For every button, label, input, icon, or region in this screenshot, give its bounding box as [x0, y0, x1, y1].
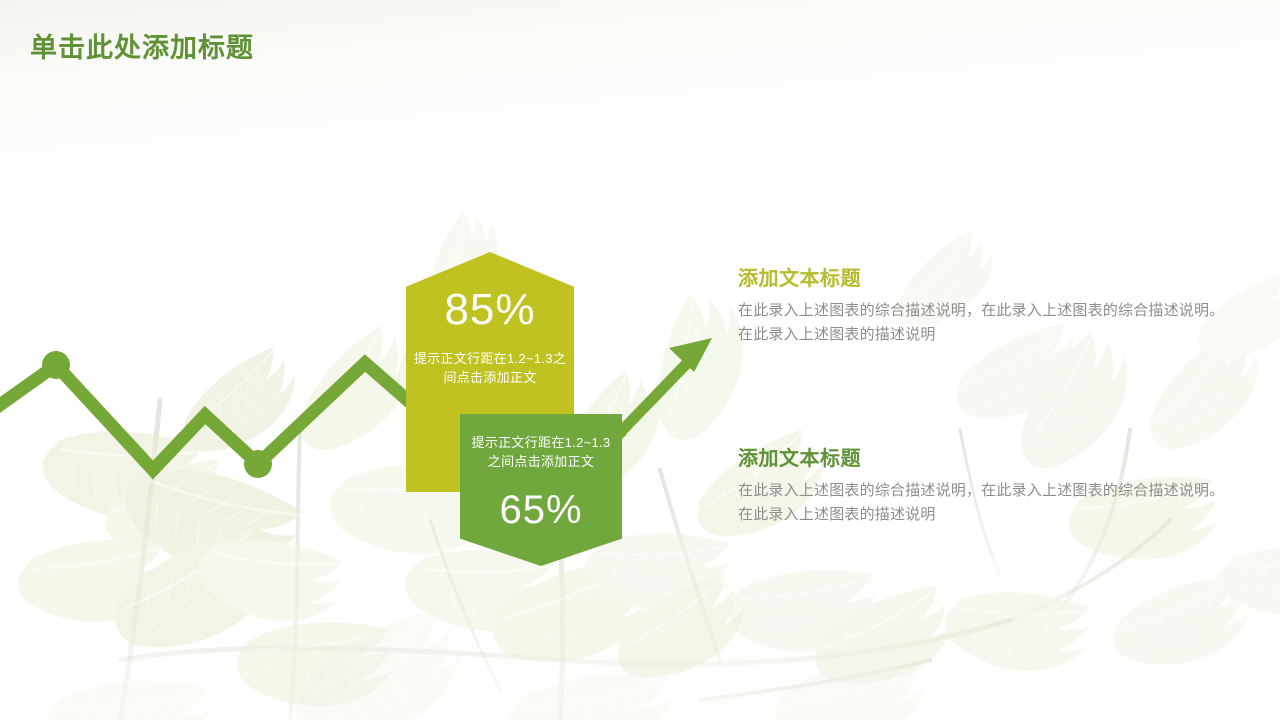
chart-marker-2	[244, 450, 272, 478]
text-block-1-heading: 添加文本标题	[738, 262, 1238, 291]
badge-65-percent[interactable]: 提示正文行距在1.2~1.3之间点击添加正文 65%	[460, 414, 622, 566]
chart-arrow	[610, 338, 712, 443]
chart-marker-1	[42, 351, 70, 379]
text-block-1: 添加文本标题 在此录入上述图表的综合描述说明，在此录入上述图表的综合描述说明。在…	[738, 262, 1238, 348]
badge-65-note: 提示正文行距在1.2~1.3之间点击添加正文	[465, 434, 617, 472]
slide-canvas: 单击此处添加标题 85% 提示正文行距在1.2~1.3之间点击添加正文 提示正文…	[0, 0, 1280, 720]
badge-85-note: 提示正文行距在1.2~1.3之间点击添加正文	[412, 350, 568, 388]
badge-85-percent-value: 85%	[406, 288, 574, 332]
text-block-2: 添加文本标题 在此录入上述图表的综合描述说明，在此录入上述图表的综合描述说明。在…	[738, 442, 1238, 528]
text-block-2-heading: 添加文本标题	[738, 442, 1238, 471]
line-chart	[0, 0, 1280, 720]
text-block-1-body: 在此录入上述图表的综合描述说明，在此录入上述图表的综合描述说明。在此录入上述图表…	[738, 299, 1238, 348]
badge-65-percent-value: 65%	[460, 490, 622, 530]
text-block-2-body: 在此录入上述图表的综合描述说明，在此录入上述图表的综合描述说明。在此录入上述图表…	[738, 479, 1238, 528]
